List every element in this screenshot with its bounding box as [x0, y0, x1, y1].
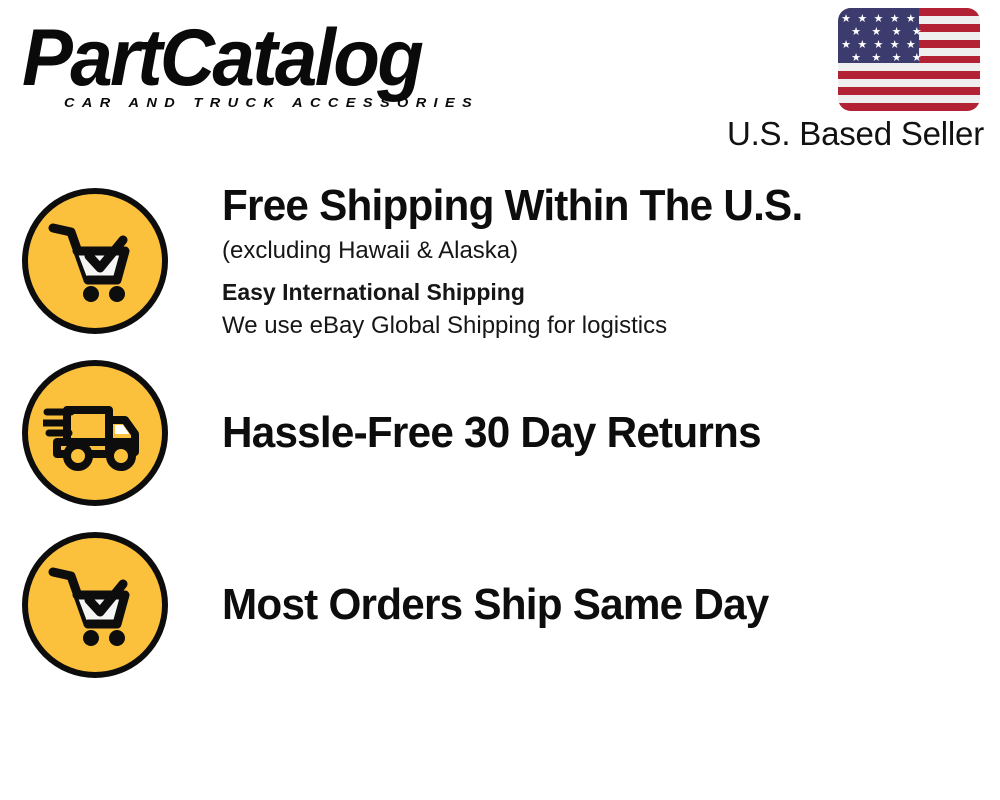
- flag-stripe: [838, 71, 980, 79]
- feature-text: Free Shipping Within The U.S. (excluding…: [190, 180, 1000, 342]
- shopping-cart-check-icon: [22, 532, 168, 678]
- feature-list: Free Shipping Within The U.S. (excluding…: [0, 175, 1000, 691]
- feature-title: Hassle-Free 30 Day Returns: [222, 407, 969, 459]
- flag-stripe: [838, 95, 980, 103]
- brand-wordmark: PartCatalog: [22, 18, 520, 99]
- fast-delivery-truck-icon: [22, 360, 168, 506]
- feature-row-returns: Hassle-Free 30 Day Returns: [0, 347, 1000, 519]
- feature-text: Most Orders Ship Same Day: [190, 579, 1000, 631]
- feature-icon-wrap: [0, 360, 190, 506]
- flag-star-row: ★★★★★: [838, 14, 919, 25]
- flag-star-row: ★★★★: [838, 27, 935, 38]
- flag-stripe: [838, 63, 980, 71]
- flag-stripe: [838, 79, 980, 87]
- us-based-seller-badge: ★★★★★ ★★★★ ★★★★★ ★★★★ U.S. Based Seller: [708, 8, 988, 153]
- feature-title: Free Shipping Within The U.S.: [222, 180, 969, 232]
- flag-star-row: ★★★★★: [838, 40, 919, 51]
- seller-badge-label: U.S. Based Seller: [708, 115, 984, 153]
- feature-subtitle: (excluding Hawaii & Alaska): [222, 234, 1000, 267]
- us-flag-icon: ★★★★★ ★★★★ ★★★★★ ★★★★: [838, 8, 980, 111]
- feature-row-free-shipping: Free Shipping Within The U.S. (excluding…: [0, 175, 1000, 347]
- feature-title: Most Orders Ship Same Day: [222, 579, 969, 631]
- brand-tagline: CAR AND TRUCK ACCESSORIES: [64, 96, 479, 111]
- feature-subtitle-detail: We use eBay Global Shipping for logistic…: [222, 309, 1000, 342]
- flag-stripe: [838, 103, 980, 111]
- feature-icon-wrap: [0, 532, 190, 678]
- page-header: PartCatalog CAR AND TRUCK ACCESSORIES ★★…: [0, 0, 1000, 175]
- feature-subtitle-bold: Easy International Shipping: [222, 276, 1000, 309]
- flag-canton: ★★★★★ ★★★★ ★★★★★ ★★★★: [838, 8, 919, 63]
- brand-logo[interactable]: PartCatalog CAR AND TRUCK ACCESSORIES: [22, 18, 492, 118]
- feature-text: Hassle-Free 30 Day Returns: [190, 407, 1000, 459]
- feature-icon-wrap: [0, 188, 190, 334]
- shopping-cart-check-icon: [22, 188, 168, 334]
- flag-star-row: ★★★★: [838, 53, 935, 64]
- flag-stripe: [838, 87, 980, 95]
- feature-row-same-day-shipping: Most Orders Ship Same Day: [0, 519, 1000, 691]
